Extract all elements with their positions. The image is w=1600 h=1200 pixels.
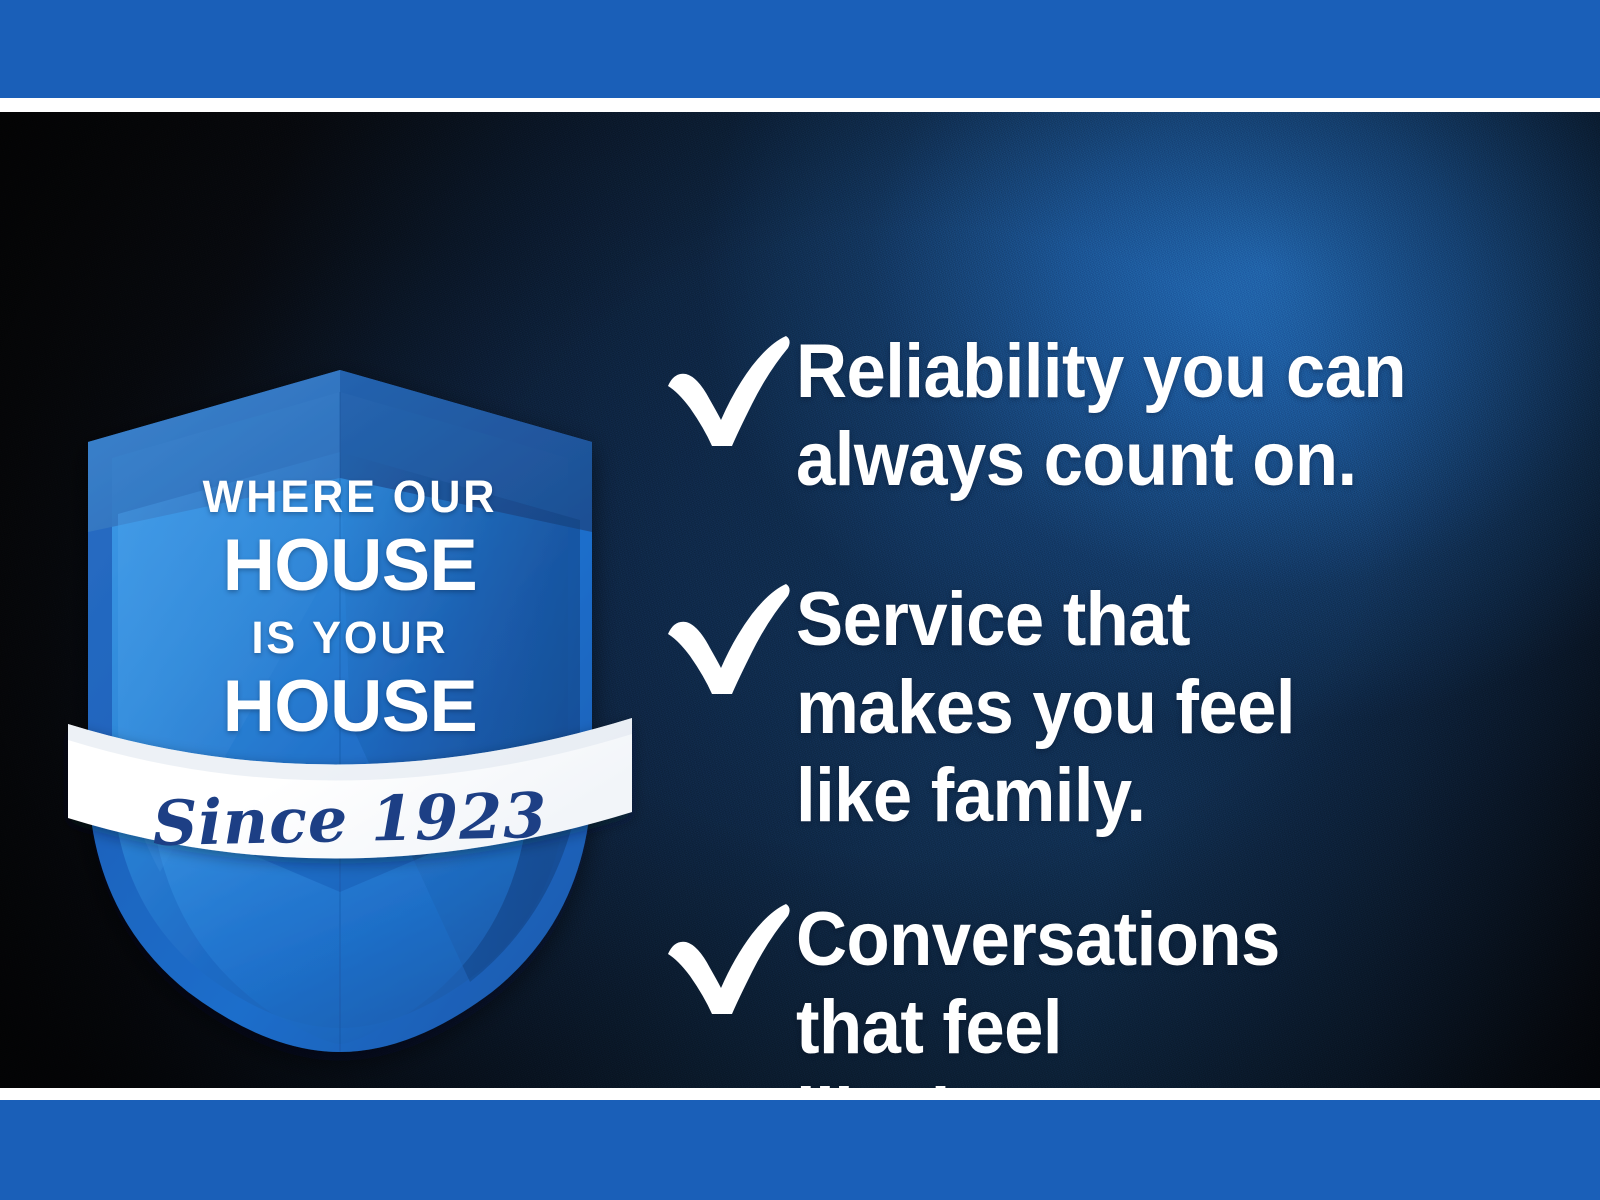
top-accent-bar	[0, 0, 1600, 98]
benefit-3-line-1: Conversations	[796, 896, 1488, 984]
shield-shape	[88, 370, 592, 1052]
benefit-text-2: Service that makes you feel like family.	[796, 576, 1488, 840]
shield-badge: WHERE OUR HOUSE IS YOUR HOUSE Since 1923	[40, 252, 660, 1082]
checkmark-icon	[660, 902, 796, 1020]
benefit-3-line-3: like home.	[796, 1072, 1488, 1088]
benefit-item-1: Reliability you can always count on.	[660, 328, 1540, 504]
benefit-text-3: Conversations that feel like home.	[796, 896, 1488, 1088]
benefit-item-2: Service that makes you feel like family.	[660, 576, 1540, 840]
checkmark-icon	[660, 582, 796, 700]
bottom-accent-bar	[0, 1100, 1600, 1200]
benefit-2-line-2: makes you feel	[796, 664, 1488, 752]
benefit-2-line-1: Service that	[796, 576, 1488, 664]
benefits-list: Reliability you can always count on. Ser…	[660, 224, 1540, 1088]
benefit-1-line-2: always count on.	[796, 416, 1488, 504]
benefit-3-line-2: that feel	[796, 984, 1488, 1072]
benefit-2-line-3: like family.	[796, 752, 1488, 840]
checkmark-icon	[660, 334, 796, 452]
main-stage: WHERE OUR HOUSE IS YOUR HOUSE Since 1923…	[0, 112, 1600, 1088]
benefit-1-line-1: Reliability you can	[796, 328, 1488, 416]
benefit-text-1: Reliability you can always count on.	[796, 328, 1488, 504]
benefit-item-3: Conversations that feel like home.	[660, 896, 1540, 1088]
promo-banner: WHERE OUR HOUSE IS YOUR HOUSE Since 1923…	[0, 0, 1600, 1200]
